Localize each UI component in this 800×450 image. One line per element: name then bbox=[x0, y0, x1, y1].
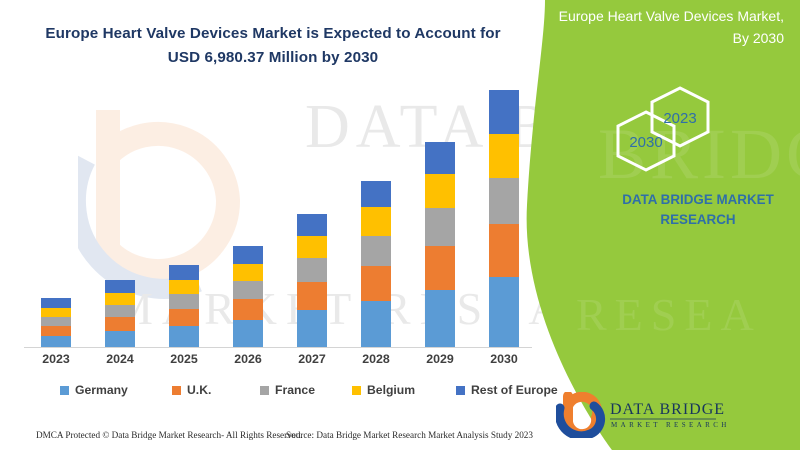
legend-label: Belgium bbox=[367, 383, 415, 397]
bar-2024 bbox=[105, 280, 135, 347]
legend-swatch-icon bbox=[260, 386, 269, 395]
bar-segment-2023-belgium bbox=[41, 308, 71, 317]
legend-label: Rest of Europe bbox=[471, 383, 558, 397]
bar-segment-2030-rest-of-europe bbox=[489, 90, 519, 134]
bar-segment-2024-belgium bbox=[105, 293, 135, 305]
bar-segment-2024-germany bbox=[105, 331, 135, 347]
bar-segment-2026-u-k- bbox=[233, 299, 263, 320]
bar-segment-2024-rest-of-europe bbox=[105, 280, 135, 293]
bar-segment-2027-belgium bbox=[297, 236, 327, 258]
bar-segment-2024-france bbox=[105, 305, 135, 317]
bar-segment-2027-germany bbox=[297, 310, 327, 347]
bar-2027 bbox=[297, 214, 327, 348]
bar-segment-2025-u-k- bbox=[169, 309, 199, 326]
bar-segment-2026-france bbox=[233, 281, 263, 299]
legend-swatch-icon bbox=[352, 386, 361, 395]
bar-2023 bbox=[41, 298, 71, 347]
bar-2030 bbox=[489, 90, 519, 347]
bar-segment-2026-rest-of-europe bbox=[233, 246, 263, 264]
legend-label: France bbox=[275, 383, 315, 397]
svg-text:DATA BRIDGE: DATA BRIDGE bbox=[610, 401, 725, 418]
databridge-logo: DATA BRIDGE MARKET RESEARCH bbox=[556, 392, 756, 438]
legend-label: Germany bbox=[75, 383, 128, 397]
bar-segment-2025-belgium bbox=[169, 280, 199, 294]
legend-swatch-icon bbox=[172, 386, 181, 395]
bar-segment-2029-germany bbox=[425, 290, 455, 347]
bar-segment-2028-u-k- bbox=[361, 266, 391, 301]
x-axis-label-2027: 2027 bbox=[283, 352, 341, 366]
x-axis-label-2029: 2029 bbox=[411, 352, 469, 366]
svg-text:RESEA: RESEA bbox=[576, 289, 762, 340]
chart-x-axis bbox=[24, 347, 532, 348]
bar-segment-2029-belgium bbox=[425, 174, 455, 208]
svg-text:2023: 2023 bbox=[663, 110, 696, 127]
legend-item-belgium[interactable]: Belgium bbox=[352, 383, 415, 397]
x-axis-label-2024: 2024 bbox=[91, 352, 149, 366]
bar-segment-2025-germany bbox=[169, 326, 199, 347]
legend-item-france[interactable]: France bbox=[260, 383, 315, 397]
bar-segment-2029-rest-of-europe bbox=[425, 142, 455, 174]
legend-swatch-icon bbox=[456, 386, 465, 395]
bar-2026 bbox=[233, 246, 263, 347]
bar-segment-2026-germany bbox=[233, 320, 263, 347]
bar-segment-2026-belgium bbox=[233, 264, 263, 281]
bar-2028 bbox=[361, 181, 391, 347]
x-axis-label-2023: 2023 bbox=[27, 352, 85, 366]
brand-caption-line2: RESEARCH bbox=[600, 210, 796, 230]
footer-source: Source: Data Bridge Market Research Mark… bbox=[286, 430, 533, 440]
bar-segment-2028-rest-of-europe bbox=[361, 181, 391, 207]
chart-x-axis-labels: 20232024202520262027202820292030 bbox=[24, 352, 536, 372]
bar-segment-2023-rest-of-europe bbox=[41, 298, 71, 308]
panel-title-line2: By 2030 bbox=[514, 28, 784, 50]
hexagon-group: 2030 2023 bbox=[610, 82, 750, 177]
bar-segment-2023-u-k- bbox=[41, 326, 71, 336]
bar-segment-2027-france bbox=[297, 258, 327, 282]
bar-segment-2028-belgium bbox=[361, 207, 391, 235]
bar-segment-2030-belgium bbox=[489, 134, 519, 178]
panel-brand-caption: DATA BRIDGE MARKET RESEARCH bbox=[600, 190, 796, 230]
bar-segment-2030-u-k- bbox=[489, 224, 519, 277]
svg-text:MARKET RESEARCH: MARKET RESEARCH bbox=[611, 421, 730, 429]
legend-item-germany[interactable]: Germany bbox=[60, 383, 128, 397]
bar-segment-2027-rest-of-europe bbox=[297, 214, 327, 236]
bar-segment-2029-france bbox=[425, 208, 455, 245]
x-axis-label-2025: 2025 bbox=[155, 352, 213, 366]
bar-segment-2024-u-k- bbox=[105, 317, 135, 331]
legend-label: U.K. bbox=[187, 383, 211, 397]
x-axis-label-2030: 2030 bbox=[475, 352, 533, 366]
bar-segment-2028-germany bbox=[361, 301, 391, 347]
footer-copyright: DMCA Protected © Data Bridge Market Rese… bbox=[36, 430, 303, 440]
bar-2029 bbox=[425, 142, 455, 347]
brand-caption-line1: DATA BRIDGE MARKET bbox=[622, 192, 774, 207]
bar-segment-2028-france bbox=[361, 236, 391, 266]
bar-segment-2029-u-k- bbox=[425, 246, 455, 290]
chart-plot-area bbox=[24, 96, 536, 347]
bar-segment-2023-germany bbox=[41, 336, 71, 347]
legend-item-u-k-[interactable]: U.K. bbox=[172, 383, 211, 397]
bar-segment-2030-germany bbox=[489, 277, 519, 347]
bar-segment-2025-france bbox=[169, 294, 199, 309]
bar-segment-2030-france bbox=[489, 178, 519, 223]
x-axis-label-2028: 2028 bbox=[347, 352, 405, 366]
bar-segment-2027-u-k- bbox=[297, 282, 327, 310]
bar-segment-2025-rest-of-europe bbox=[169, 265, 199, 280]
panel-title-line1: Europe Heart Valve Devices Market, bbox=[559, 8, 784, 24]
legend-item-rest-of-europe[interactable]: Rest of Europe bbox=[456, 383, 558, 397]
bar-segment-2023-france bbox=[41, 317, 71, 326]
svg-text:2030: 2030 bbox=[629, 134, 662, 151]
infographic-root: DATA BRIDGE MARKET RESEARCH Europe Heart… bbox=[0, 0, 800, 450]
x-axis-label-2026: 2026 bbox=[219, 352, 277, 366]
legend-swatch-icon bbox=[60, 386, 69, 395]
bar-2025 bbox=[169, 265, 199, 347]
chart-legend: GermanyU.K.FranceBelgiumRest of Europe bbox=[24, 383, 536, 403]
panel-title: Europe Heart Valve Devices Market, By 20… bbox=[514, 6, 784, 49]
